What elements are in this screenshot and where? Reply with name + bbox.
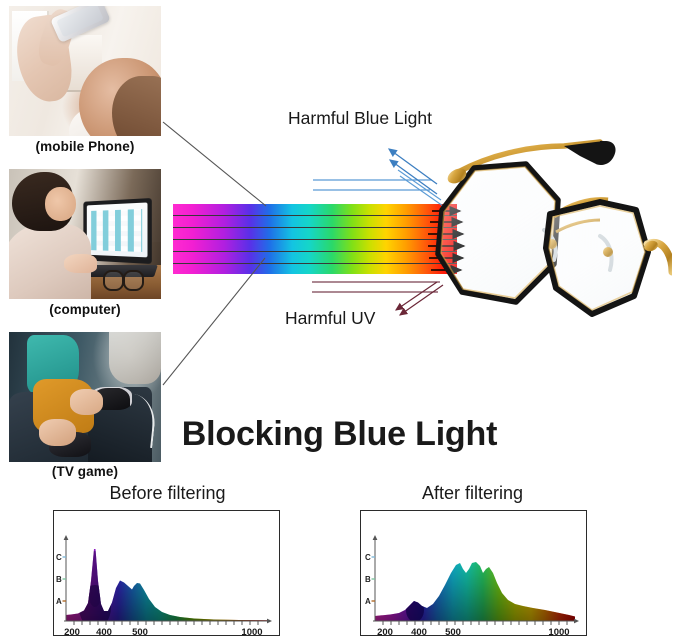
- chart-before-svg: A B C 200 400 500 1000: [54, 511, 279, 635]
- xtick-200: 200: [377, 627, 393, 635]
- chart-title-before: Before filtering: [55, 483, 280, 504]
- ytick-a: A: [56, 597, 62, 606]
- spectrum-area-after: [375, 549, 575, 623]
- xtick-500: 500: [445, 627, 461, 635]
- label-harmful-blue-light: Harmful Blue Light: [288, 108, 432, 129]
- ytick-b: B: [365, 575, 371, 584]
- hand-shape: [64, 254, 97, 274]
- peak-shading-before: [79, 551, 111, 629]
- eyeglasses-illustration: [404, 132, 672, 322]
- photo-mobile-phone-content: [9, 6, 161, 136]
- photo-caption-tv-game: (TV game): [9, 464, 161, 479]
- xtick-1000: 1000: [241, 627, 262, 635]
- xtick-400: 400: [96, 627, 112, 635]
- ytick-b: B: [56, 575, 62, 584]
- eyeglasses-on-desk: [103, 274, 144, 291]
- face-shape: [45, 187, 75, 221]
- photo-caption-computer: (computer): [9, 302, 161, 317]
- peak-shading-after: [406, 598, 424, 622]
- xtick-500: 500: [132, 627, 148, 635]
- lens-left: [438, 164, 558, 302]
- photo-computer: [9, 169, 161, 299]
- label-harmful-uv: Harmful UV: [285, 308, 375, 329]
- chart-after-svg: A B C 200 400 500 1000: [361, 511, 586, 635]
- ytick-c: C: [365, 553, 371, 562]
- chart-before-filtering: A B C 200 400 500 1000: [53, 510, 280, 636]
- xtick-1000: 1000: [548, 627, 569, 635]
- background-person: [109, 332, 161, 384]
- photo-computer-content: [9, 169, 161, 299]
- hand-shape: [70, 389, 103, 415]
- ytick-a: A: [365, 597, 371, 606]
- laptop-shape: [84, 198, 153, 264]
- xtick-400: 400: [411, 627, 427, 635]
- photo-caption-mobile-phone: (mobile Phone): [9, 139, 161, 154]
- laptop-screen: [87, 203, 148, 258]
- ytick-c: C: [56, 553, 62, 562]
- xtick-200: 200: [64, 627, 80, 635]
- lens-right: [546, 202, 648, 314]
- photo-mobile-phone: [9, 6, 161, 136]
- page-title: Blocking Blue Light: [0, 415, 679, 454]
- chart-after-filtering: A B C 200 400 500 1000: [360, 510, 587, 636]
- screen-grid: [92, 209, 143, 252]
- chart-title-after: After filtering: [360, 483, 585, 504]
